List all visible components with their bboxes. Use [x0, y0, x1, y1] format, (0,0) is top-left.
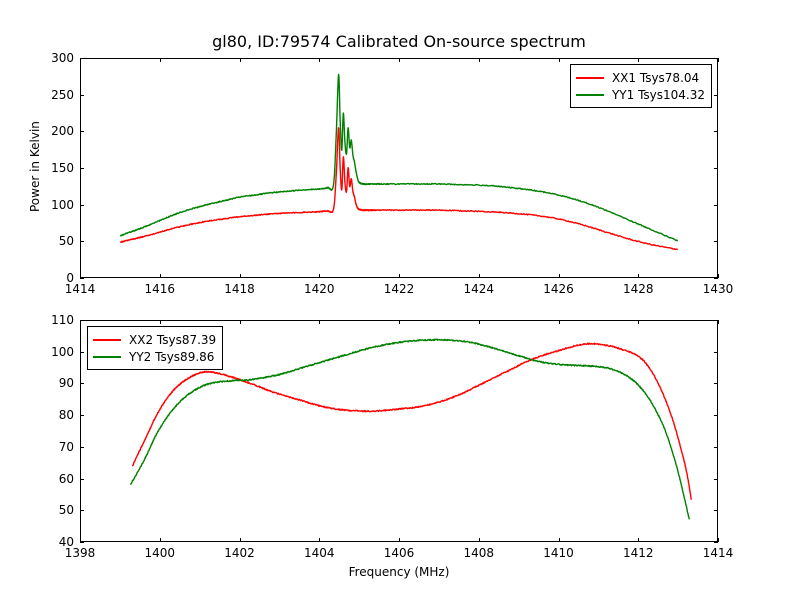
y-tick-label: 50 [26, 503, 74, 517]
x-tick-label: 1428 [623, 282, 654, 296]
data-series-line [121, 128, 678, 250]
spectrum-figure: gl80, ID:79574 Calibrated On-source spec… [0, 0, 800, 600]
y-tick-mark [714, 447, 718, 448]
y-tick-label: 150 [26, 161, 74, 175]
top-panel-axes: XX1 Tsys78.04 YY1 Tsys104.32 [80, 58, 718, 278]
x-tick-label: 1414 [703, 546, 734, 560]
x-tick-mark [638, 538, 639, 542]
legend-label-yy1: YY1 Tsys104.32 [612, 88, 705, 102]
x-tick-label: 1418 [224, 282, 255, 296]
y-tick-mark [80, 352, 84, 353]
x-tick-label: 1408 [463, 546, 494, 560]
x-tick-mark [160, 274, 161, 278]
legend-color-swatch-yy1 [576, 94, 604, 96]
y-tick-mark [714, 415, 718, 416]
x-tick-mark [319, 274, 320, 278]
y-tick-mark [714, 205, 718, 206]
x-tick-mark [240, 320, 241, 324]
y-tick-label: 300 [26, 51, 74, 65]
x-tick-mark [718, 538, 719, 542]
x-tick-mark [479, 274, 480, 278]
y-tick-label: 40 [26, 535, 74, 549]
y-tick-mark [80, 510, 84, 511]
x-tick-mark [399, 58, 400, 62]
x-tick-mark [399, 320, 400, 324]
legend-label-xx2: XX2 Tsys87.39 [129, 333, 216, 347]
y-tick-mark [80, 278, 84, 279]
x-tick-label: 1422 [384, 282, 415, 296]
y-tick-label: 90 [26, 376, 74, 390]
x-tick-mark [559, 58, 560, 62]
y-tick-mark [80, 131, 84, 132]
y-tick-label: 50 [26, 234, 74, 248]
y-tick-mark [714, 95, 718, 96]
y-tick-mark [80, 95, 84, 96]
y-tick-mark [714, 131, 718, 132]
y-tick-label: 200 [26, 124, 74, 138]
x-tick-mark [479, 538, 480, 542]
x-tick-mark [559, 274, 560, 278]
y-tick-mark [714, 241, 718, 242]
y-tick-mark [714, 58, 718, 59]
x-tick-mark [718, 58, 719, 62]
y-tick-mark [80, 58, 84, 59]
x-tick-label: 1424 [463, 282, 494, 296]
y-tick-label: 110 [26, 313, 74, 327]
x-tick-mark [399, 538, 400, 542]
x-tick-label: 1426 [543, 282, 574, 296]
legend-label-xx1: XX1 Tsys78.04 [612, 71, 699, 85]
legend-item: YY1 Tsys104.32 [576, 86, 705, 103]
y-tick-mark [80, 168, 84, 169]
x-tick-label: 1420 [304, 282, 335, 296]
y-tick-mark [714, 352, 718, 353]
legend-item: XX1 Tsys78.04 [576, 69, 705, 86]
x-tick-label: 1412 [623, 546, 654, 560]
x-tick-mark [240, 58, 241, 62]
y-tick-label: 100 [26, 198, 74, 212]
x-tick-mark [160, 320, 161, 324]
y-tick-mark [714, 278, 718, 279]
x-tick-mark [240, 274, 241, 278]
y-tick-mark [80, 415, 84, 416]
y-tick-mark [80, 241, 84, 242]
y-tick-mark [80, 320, 84, 321]
x-tick-label: 1430 [703, 282, 734, 296]
y-tick-mark [714, 542, 718, 543]
y-tick-mark [714, 383, 718, 384]
y-tick-mark [80, 479, 84, 480]
y-tick-mark [714, 479, 718, 480]
legend-item: YY2 Tsys89.86 [93, 348, 216, 365]
legend-color-swatch-yy2 [93, 356, 121, 358]
y-tick-mark [80, 542, 84, 543]
legend-item: XX2 Tsys87.39 [93, 331, 216, 348]
x-tick-mark [638, 320, 639, 324]
x-tick-mark [718, 320, 719, 324]
x-tick-label: 1416 [144, 282, 175, 296]
x-tick-mark [399, 274, 400, 278]
x-tick-label: 1410 [543, 546, 574, 560]
x-tick-label: 1404 [304, 546, 335, 560]
y-tick-label: 80 [26, 408, 74, 422]
y-tick-mark [80, 205, 84, 206]
bottom-panel-legend: XX2 Tsys87.39 YY2 Tsys89.86 [87, 326, 223, 370]
x-tick-mark [718, 274, 719, 278]
legend-color-swatch-xx1 [576, 77, 604, 79]
y-tick-label: 250 [26, 88, 74, 102]
x-tick-mark [479, 320, 480, 324]
legend-color-swatch-xx2 [93, 339, 121, 341]
x-tick-mark [240, 538, 241, 542]
x-tick-mark [559, 320, 560, 324]
top-panel-legend: XX1 Tsys78.04 YY1 Tsys104.32 [570, 64, 712, 108]
x-tick-label: 1400 [144, 546, 175, 560]
x-tick-mark [319, 320, 320, 324]
x-tick-mark [319, 538, 320, 542]
y-tick-label: 60 [26, 472, 74, 486]
x-tick-label: 1402 [224, 546, 255, 560]
x-tick-mark [160, 538, 161, 542]
y-tick-mark [714, 510, 718, 511]
y-tick-mark [80, 447, 84, 448]
bottom-panel-axes: XX2 Tsys87.39 YY2 Tsys89.86 [80, 320, 718, 542]
bottom-panel-x-axis-label: Frequency (MHz) [80, 565, 718, 579]
legend-label-yy2: YY2 Tsys89.86 [129, 350, 214, 364]
y-tick-label: 70 [26, 440, 74, 454]
x-tick-mark [559, 538, 560, 542]
y-tick-mark [714, 320, 718, 321]
x-tick-mark [319, 58, 320, 62]
y-tick-mark [80, 383, 84, 384]
x-tick-mark [479, 58, 480, 62]
figure-title: gl80, ID:79574 Calibrated On-source spec… [80, 32, 718, 51]
y-tick-label: 100 [26, 345, 74, 359]
x-tick-label: 1406 [384, 546, 415, 560]
x-tick-mark [638, 58, 639, 62]
x-tick-mark [160, 58, 161, 62]
y-tick-label: 0 [26, 271, 74, 285]
x-tick-mark [638, 274, 639, 278]
y-tick-mark [714, 168, 718, 169]
